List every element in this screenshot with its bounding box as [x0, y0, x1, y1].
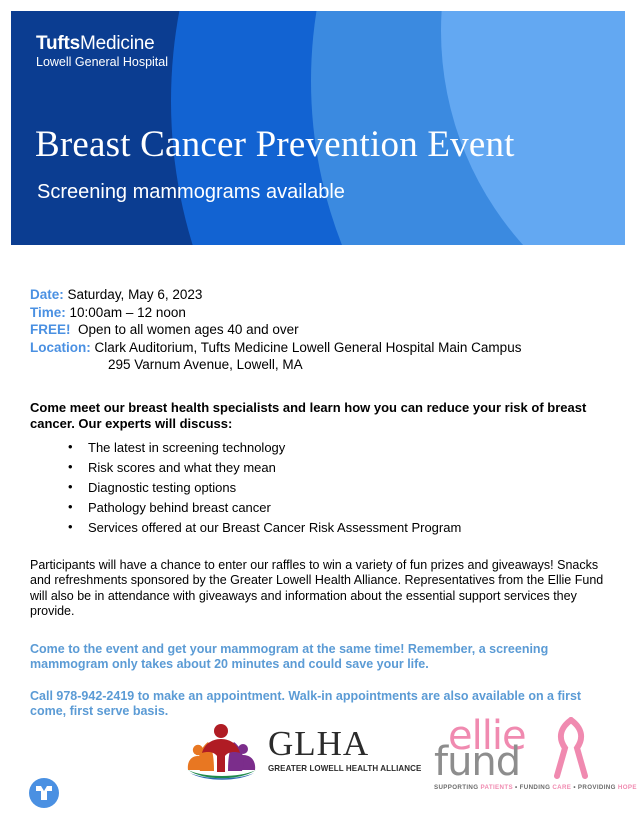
free-value: Open to all women ages 40 and over: [78, 322, 299, 337]
detail-row-location: Location: Clark Auditorium, Tufts Medici…: [30, 339, 610, 357]
body-paragraph: Participants will have a chance to enter…: [30, 558, 610, 620]
glha-people-icon: [184, 720, 260, 780]
detail-row-free: FREE! Open to all women ages 40 and over: [30, 321, 610, 339]
tufts-medicine-logo: TuftsMedicine Lowell General Hospital: [36, 33, 168, 69]
logo-brand-bold: Tufts: [36, 33, 80, 54]
free-label: FREE!: [30, 322, 71, 337]
list-item: Risk scores and what they mean: [68, 458, 610, 478]
location-value: Clark Auditorium, Tufts Medicine Lowell …: [95, 340, 522, 355]
ellie-tagline: SUPPORTING PATIENTS • FUNDING CARE • PRO…: [434, 784, 637, 791]
logo-brand-line: TuftsMedicine: [36, 33, 168, 54]
tagline-part-5: • PROVIDING: [571, 784, 618, 791]
callout-mammogram: Come to the event and get your mammogram…: [30, 642, 610, 673]
flyer-body: Date: Saturday, May 6, 2023 Time: 10:00a…: [30, 286, 610, 720]
tagline-part-2: PATIENTS: [480, 784, 512, 791]
time-value: 10:00am – 12 noon: [70, 305, 186, 320]
detail-row-address: 295 Varnum Avenue, Lowell, MA: [30, 356, 610, 374]
tagline-part-3: • FUNDING: [513, 784, 552, 791]
list-item: The latest in screening technology: [68, 438, 610, 458]
footer-logos: GLHA GREATER LOWELL HEALTH ALLIANCE elli…: [0, 712, 637, 802]
detail-row-date: Date: Saturday, May 6, 2023: [30, 286, 610, 304]
logo-brand-light: Medicine: [80, 33, 154, 54]
event-details: Date: Saturday, May 6, 2023 Time: 10:00a…: [30, 286, 610, 374]
ellie-fund-logo: ellie fund SUPPORTING PATIENTS • FUNDING…: [432, 712, 608, 800]
logo-hospital-line: Lowell General Hospital: [36, 55, 168, 69]
event-subtitle: Screening mammograms available: [37, 181, 345, 204]
banner-content: TuftsMedicine Lowell General Hospital Br…: [11, 11, 625, 245]
hero-banner: TuftsMedicine Lowell General Hospital Br…: [11, 11, 625, 245]
location-label: Location:: [30, 340, 91, 355]
glha-full-name: GREATER LOWELL HEALTH ALLIANCE: [268, 763, 421, 773]
event-title: Breast Cancer Prevention Event: [35, 123, 515, 166]
detail-row-time: Time: 10:00am – 12 noon: [30, 304, 610, 322]
list-item: Services offered at our Breast Cancer Ri…: [68, 518, 610, 538]
fund-word: fund: [434, 742, 520, 782]
list-item: Diagnostic testing options: [68, 478, 610, 498]
date-value: Saturday, May 6, 2023: [68, 287, 203, 302]
glha-logo: GLHA GREATER LOWELL HEALTH ALLIANCE: [184, 720, 431, 780]
tagline-part-1: SUPPORTING: [434, 784, 480, 791]
topics-list: The latest in screening technology Risk …: [30, 438, 610, 538]
list-item: Pathology behind breast cancer: [68, 498, 610, 518]
pink-ribbon-icon: [548, 714, 594, 780]
time-label: Time:: [30, 305, 66, 320]
date-label: Date:: [30, 287, 64, 302]
lead-paragraph: Come meet our breast health specialists …: [30, 400, 610, 432]
circle-m-badge-icon: [24, 773, 64, 813]
tagline-part-6: HOPE: [618, 784, 637, 791]
tagline-part-4: CARE: [552, 784, 571, 791]
glha-acronym: GLHA: [268, 727, 431, 761]
address-value: 295 Varnum Avenue, Lowell, MA: [108, 357, 303, 372]
glha-wordmark: GLHA GREATER LOWELL HEALTH ALLIANCE: [268, 727, 431, 773]
